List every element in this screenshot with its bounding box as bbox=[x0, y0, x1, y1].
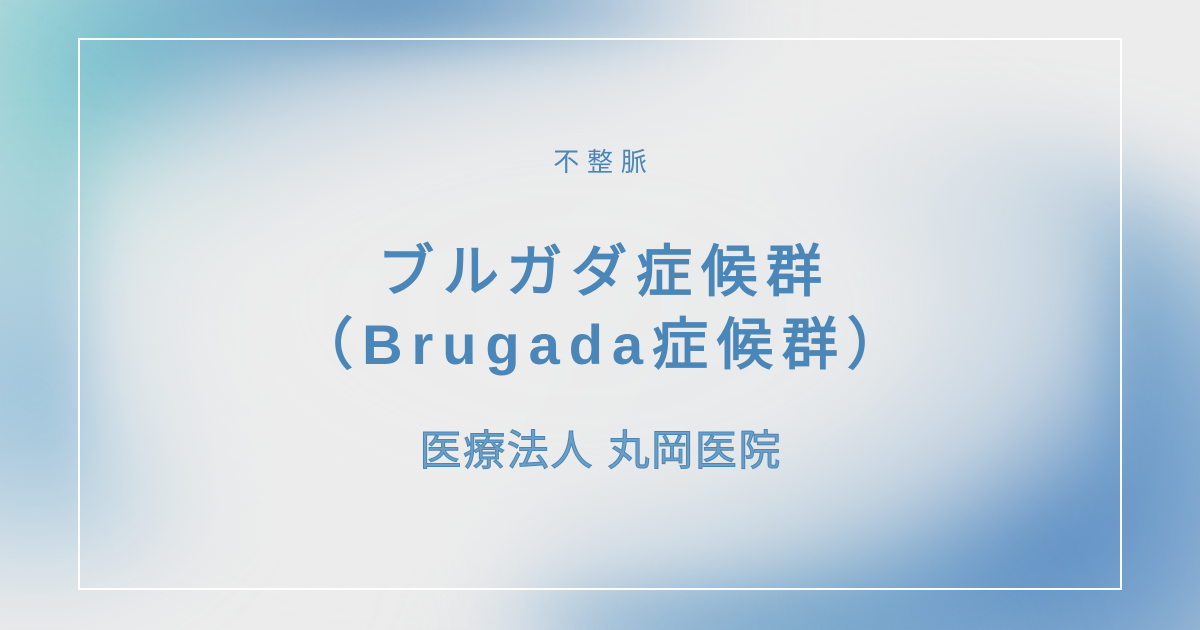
category-label: 不整脈 bbox=[545, 146, 654, 179]
page-title-line-2: （Brugada症候群） bbox=[288, 308, 912, 382]
page-title: ブルガダ症候群 （Brugada症候群） bbox=[288, 235, 912, 383]
author-organization: 医療法人 丸岡医院 bbox=[418, 424, 782, 479]
eyecatch-content: 不整脈 ブルガダ症候群 （Brugada症候群） 医療法人 丸岡医院 bbox=[0, 0, 1200, 630]
page-title-line-1: ブルガダ症候群 bbox=[288, 235, 912, 309]
eyecatch-canvas: 不整脈 ブルガダ症候群 （Brugada症候群） 医療法人 丸岡医院 bbox=[0, 0, 1200, 630]
